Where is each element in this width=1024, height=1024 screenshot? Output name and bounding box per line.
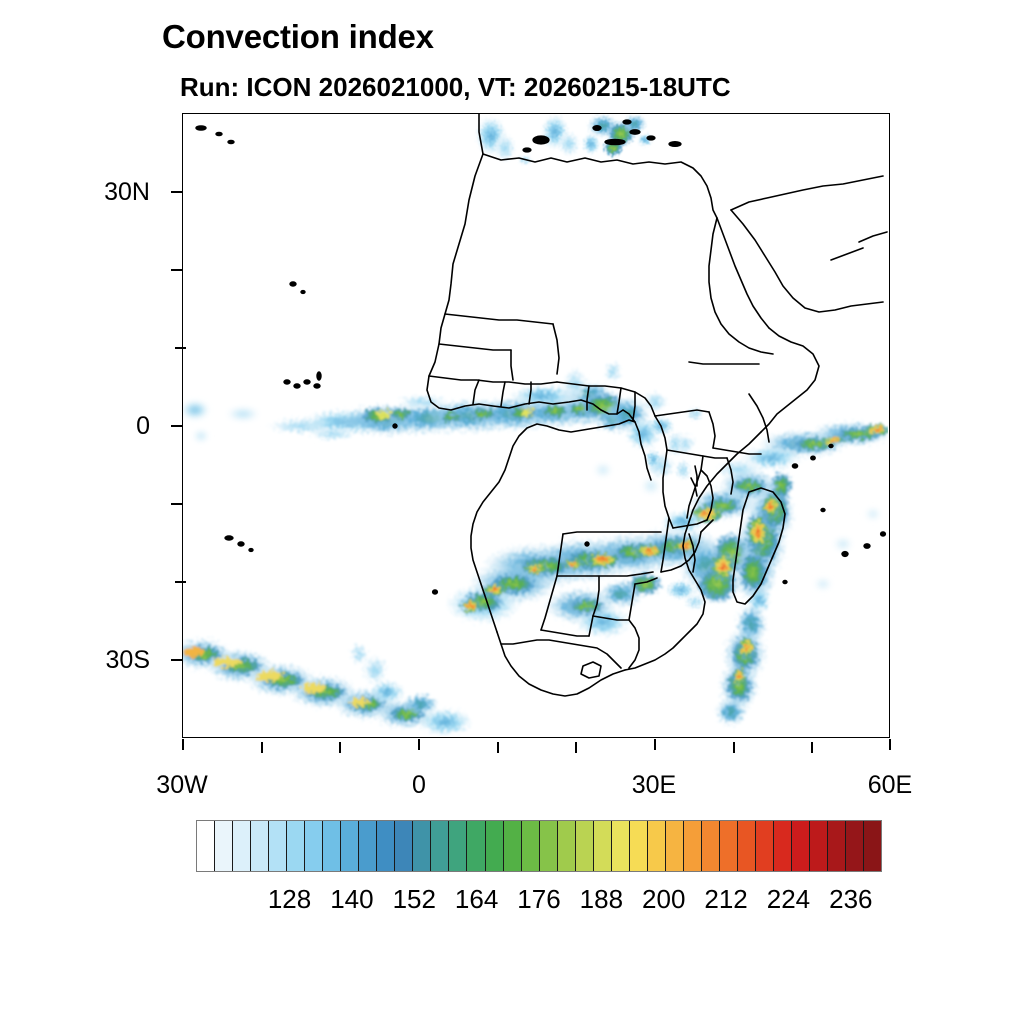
- run-valid-time-subtitle: Run: ICON 2026021000, VT: 20260215-18UTC: [180, 72, 731, 103]
- colorbar-cell: [504, 821, 522, 871]
- colorbar-cell: [702, 821, 720, 871]
- colorbar-tick-label: 188: [580, 884, 623, 915]
- x-tick-10e: [497, 742, 499, 753]
- y-axis-label-30s: 30S: [40, 646, 150, 675]
- y-axis-label-30n: 30N: [40, 178, 150, 207]
- x-tick-50e: [811, 742, 813, 753]
- x-tick-30e: [654, 739, 656, 750]
- x-tick-10w: [339, 742, 341, 753]
- colorbar-tick-label: 140: [330, 884, 373, 915]
- x-tick-0: [418, 739, 420, 750]
- x-axis-label-30w: 30W: [122, 771, 242, 800]
- x-tick-30w: [182, 739, 184, 750]
- x-tick-20w: [261, 742, 263, 753]
- colorbar-cell: [720, 821, 738, 871]
- x-axis-label-0: 0: [359, 771, 479, 800]
- colorbar-cell: [359, 821, 377, 871]
- x-axis-label-30e: 30E: [594, 771, 714, 800]
- x-axis-label-60e: 60E: [830, 771, 950, 800]
- colorbar-cell: [251, 821, 269, 871]
- page-title: Convection index: [162, 18, 434, 56]
- colorbar-cell: [576, 821, 594, 871]
- colorbar-cell: [215, 821, 233, 871]
- y-tick-0: [171, 425, 182, 427]
- colorbar-cell: [666, 821, 684, 871]
- colorbar-cell: [792, 821, 810, 871]
- colorbar-cell: [233, 821, 251, 871]
- colorbar-tick-label: 176: [517, 884, 560, 915]
- colorbar-cell: [341, 821, 359, 871]
- colorbar-cell: [810, 821, 828, 871]
- colorbar-tick-label: 224: [767, 884, 810, 915]
- colorbar-tick-label: 128: [268, 884, 311, 915]
- map-canvas: [183, 114, 888, 736]
- y-tick-7n: [175, 347, 186, 349]
- colorbar-cell: [522, 821, 540, 871]
- colorbar-cell: [594, 821, 612, 871]
- colorbar-cell: [197, 821, 215, 871]
- colorbar-cell: [738, 821, 756, 871]
- colorbar-cell: [413, 821, 431, 871]
- y-tick-15n: [171, 269, 182, 271]
- figure-root: Convection index Run: ICON 2026021000, V…: [0, 0, 1024, 1024]
- colorbar-cell: [846, 821, 864, 871]
- colorbar-tick-label: 200: [642, 884, 685, 915]
- colorbar-tick-label: 236: [829, 884, 872, 915]
- colorbar-cell: [612, 821, 630, 871]
- colorbar-cell: [864, 821, 881, 871]
- colorbar-cell: [630, 821, 648, 871]
- colorbar-cell: [774, 821, 792, 871]
- y-tick-30s: [171, 659, 182, 661]
- x-tick-40e: [733, 742, 735, 753]
- colorbar-cell: [395, 821, 413, 871]
- colorbar-cell: [269, 821, 287, 871]
- y-tick-30n: [171, 191, 182, 193]
- colorbar-tick-label: 152: [393, 884, 436, 915]
- colorbar-cell: [305, 821, 323, 871]
- colorbar-tick-label: 212: [704, 884, 747, 915]
- map-plot-area[interactable]: [182, 113, 890, 738]
- y-tick-15s: [171, 503, 182, 505]
- colorbar-cells[interactable]: [196, 820, 882, 872]
- colorbar-cell: [431, 821, 449, 871]
- colorbar-cell: [449, 821, 467, 871]
- colorbar-cell: [558, 821, 576, 871]
- colorbar-tick-label: 164: [455, 884, 498, 915]
- x-tick-60e: [889, 739, 891, 750]
- y-axis-label-0: 0: [40, 412, 150, 441]
- colorbar[interactable]: 128140152164176188200212224236: [196, 820, 882, 872]
- colorbar-cell: [377, 821, 395, 871]
- colorbar-cell: [467, 821, 485, 871]
- colorbar-cell: [756, 821, 774, 871]
- colorbar-cell: [323, 821, 341, 871]
- colorbar-cell: [684, 821, 702, 871]
- y-tick-22s: [175, 581, 186, 583]
- colorbar-cell: [287, 821, 305, 871]
- colorbar-cell: [486, 821, 504, 871]
- colorbar-cell: [648, 821, 666, 871]
- colorbar-cell: [540, 821, 558, 871]
- x-tick-20e: [575, 742, 577, 753]
- colorbar-cell: [828, 821, 846, 871]
